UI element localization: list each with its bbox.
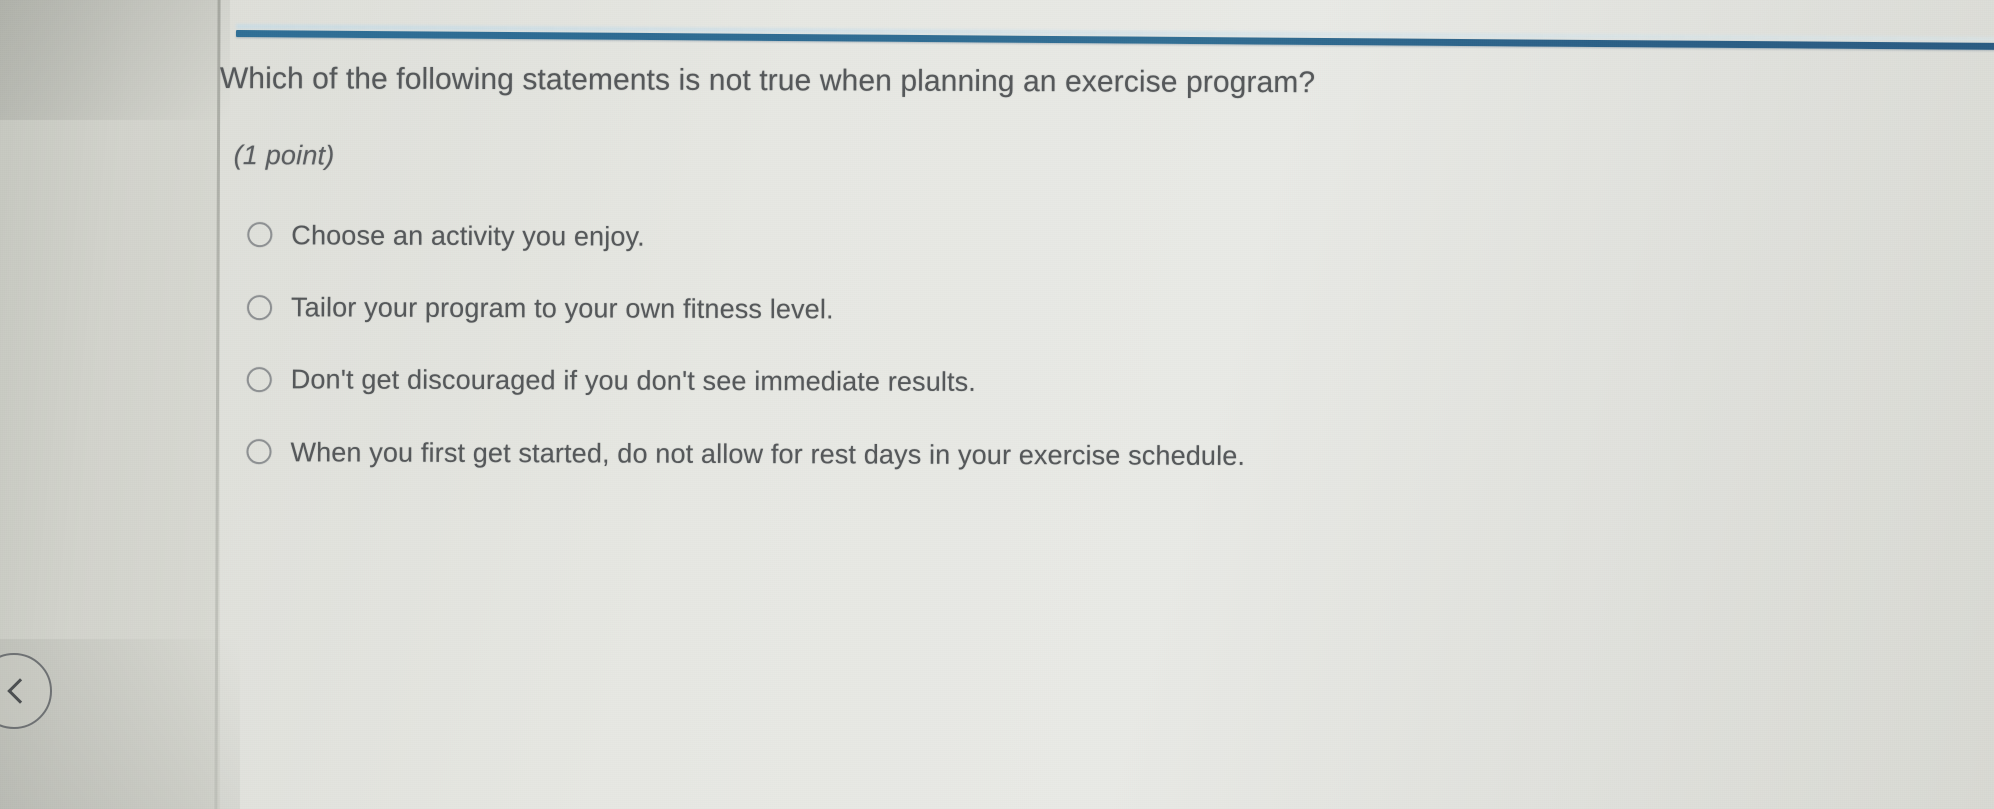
chevron-left-icon (7, 678, 32, 703)
answer-option-1[interactable]: Choose an activity you enjoy. (247, 219, 1919, 258)
points-label: (1 point) (234, 140, 1920, 177)
answer-option-label: Choose an activity you enjoy. (291, 219, 645, 253)
radio-button-icon[interactable] (246, 439, 271, 464)
question-text: Which of the following statements is not… (220, 60, 1920, 104)
question-block: Which of the following statements is not… (218, 60, 1920, 475)
answer-option-label: Don't get discouraged if you don't see i… (291, 364, 976, 399)
answer-option-3[interactable]: Don't get discouraged if you don't see i… (247, 363, 1919, 402)
answer-option-2[interactable]: Tailor your program to your own fitness … (247, 291, 1919, 330)
radio-button-icon[interactable] (247, 222, 272, 247)
radio-button-icon[interactable] (247, 367, 272, 392)
answer-options-list: Choose an activity you enjoy. Tailor you… (218, 218, 1919, 474)
radio-button-icon[interactable] (247, 295, 272, 320)
answer-option-label: Tailor your program to your own fitness … (291, 291, 834, 325)
screenshot-photo-canvas: Which of the following statements is not… (0, 0, 1994, 809)
answer-option-label: When you first get started, do not allow… (290, 436, 1245, 472)
answer-option-4[interactable]: When you first get started, do not allow… (246, 436, 1918, 475)
